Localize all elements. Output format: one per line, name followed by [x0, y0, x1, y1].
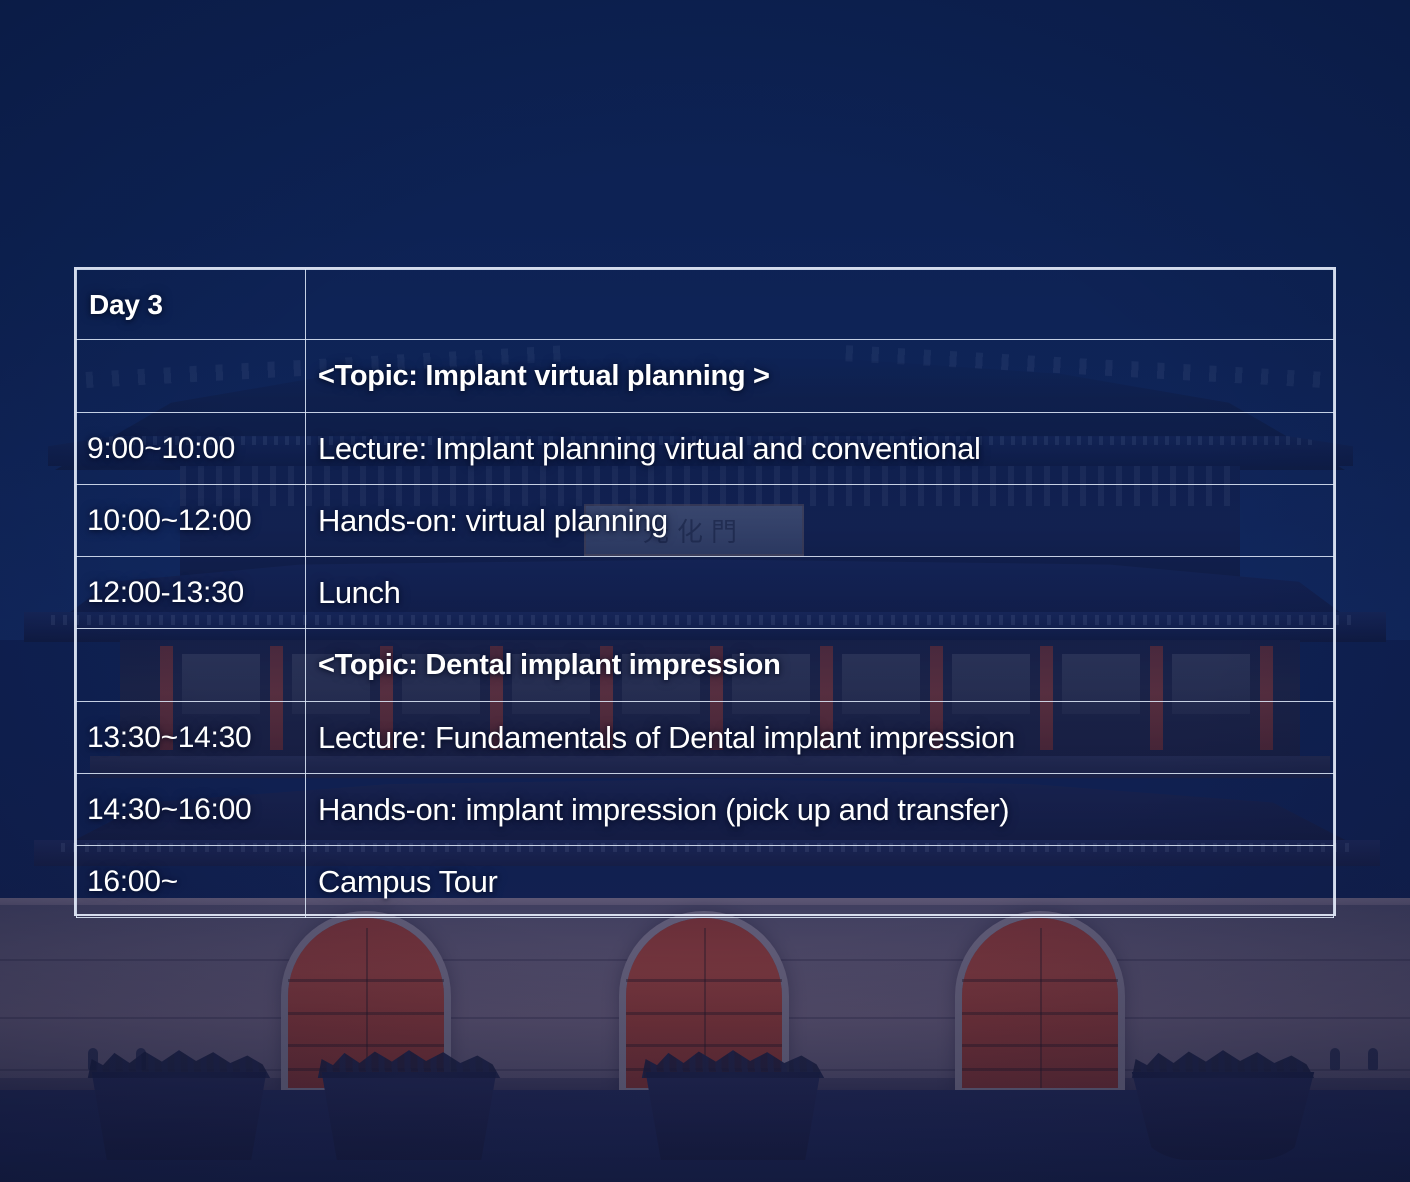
session-description: Campus Tour — [306, 846, 1334, 918]
table-row: <Topic: Dental implant impression — [77, 629, 1334, 702]
table-row: 13:30~14:30 Lecture: Fundamentals of Den… — [77, 702, 1334, 774]
session-time: 16:00~ — [77, 846, 306, 918]
session-time: 10:00~12:00 — [77, 485, 306, 557]
topic-time-cell — [77, 340, 306, 413]
session-time: 13:30~14:30 — [77, 702, 306, 774]
table-row: 12:00-13:30 Lunch — [77, 557, 1334, 629]
session-description: Hands-on: virtual planning — [306, 485, 1334, 557]
table-row: 16:00~ Campus Tour — [77, 846, 1334, 918]
session-description: Hands-on: implant impression (pick up an… — [306, 774, 1334, 846]
topic-heading: <Topic: Implant virtual planning > — [306, 340, 1334, 413]
session-time: 9:00~10:00 — [77, 413, 306, 485]
table-row: 9:00~10:00 Lecture: Implant planning vir… — [77, 413, 1334, 485]
topic-heading: <Topic: Dental implant impression — [306, 629, 1334, 702]
day-row-empty-cell — [306, 270, 1334, 340]
session-time: 12:00-13:30 — [77, 557, 306, 629]
table-row: 14:30~16:00 Hands-on: implant impression… — [77, 774, 1334, 846]
schedule-table: Day 3 <Topic: Implant virtual planning >… — [74, 267, 1336, 916]
session-description: Lunch — [306, 557, 1334, 629]
table-row: 10:00~12:00 Hands-on: virtual planning — [77, 485, 1334, 557]
session-description: Lecture: Fundamentals of Dental implant … — [306, 702, 1334, 774]
table-row: <Topic: Implant virtual planning > — [77, 340, 1334, 413]
day-label: Day 3 — [77, 270, 306, 340]
table-row: Day 3 — [77, 270, 1334, 340]
session-description: Lecture: Implant planning virtual and co… — [306, 413, 1334, 485]
session-time: 14:30~16:00 — [77, 774, 306, 846]
topic-time-cell — [77, 629, 306, 702]
